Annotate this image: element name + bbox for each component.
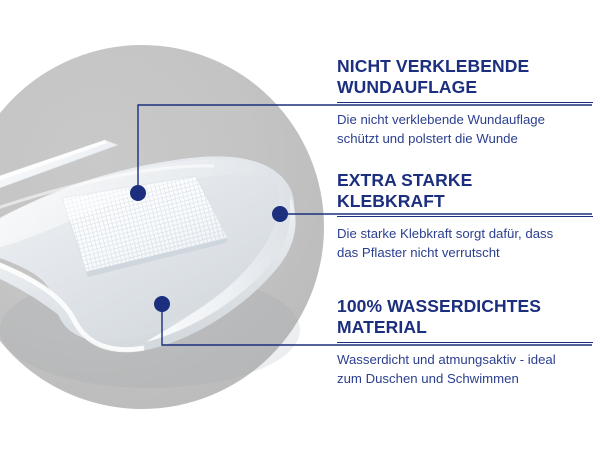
feature-block-strong-adhesion: EXTRA STARKE KLEBKRAFT Die starke Klebkr… bbox=[337, 170, 593, 262]
feature-heading-1: NICHT VERKLEBENDE WUNDAUFLAGE bbox=[337, 56, 593, 97]
product-feature-infographic: NICHT VERKLEBENDE WUNDAUFLAGE Die nicht … bbox=[0, 0, 600, 450]
plaster-illustration-svg bbox=[0, 0, 340, 450]
feature-body-1: Die nicht verklebende Wundauflage schütz… bbox=[337, 103, 593, 148]
feature-body-2: Die starke Klebkraft sorgt dafür, dass d… bbox=[337, 217, 593, 262]
feature-heading-2: EXTRA STARKE KLEBKRAFT bbox=[337, 170, 593, 211]
product-illustration bbox=[0, 0, 340, 450]
feature-text-column: NICHT VERKLEBENDE WUNDAUFLAGE Die nicht … bbox=[337, 0, 593, 450]
feature-body-3: Wasserdicht und atmungsaktiv - ideal zum… bbox=[337, 343, 593, 388]
feature-block-waterproof-material: 100% WASSERDICHTES MATERIAL Wasserdicht … bbox=[337, 296, 593, 388]
feature-block-non-adherent-pad: NICHT VERKLEBENDE WUNDAUFLAGE Die nicht … bbox=[337, 56, 593, 148]
feature-heading-3: 100% WASSERDICHTES MATERIAL bbox=[337, 296, 593, 337]
